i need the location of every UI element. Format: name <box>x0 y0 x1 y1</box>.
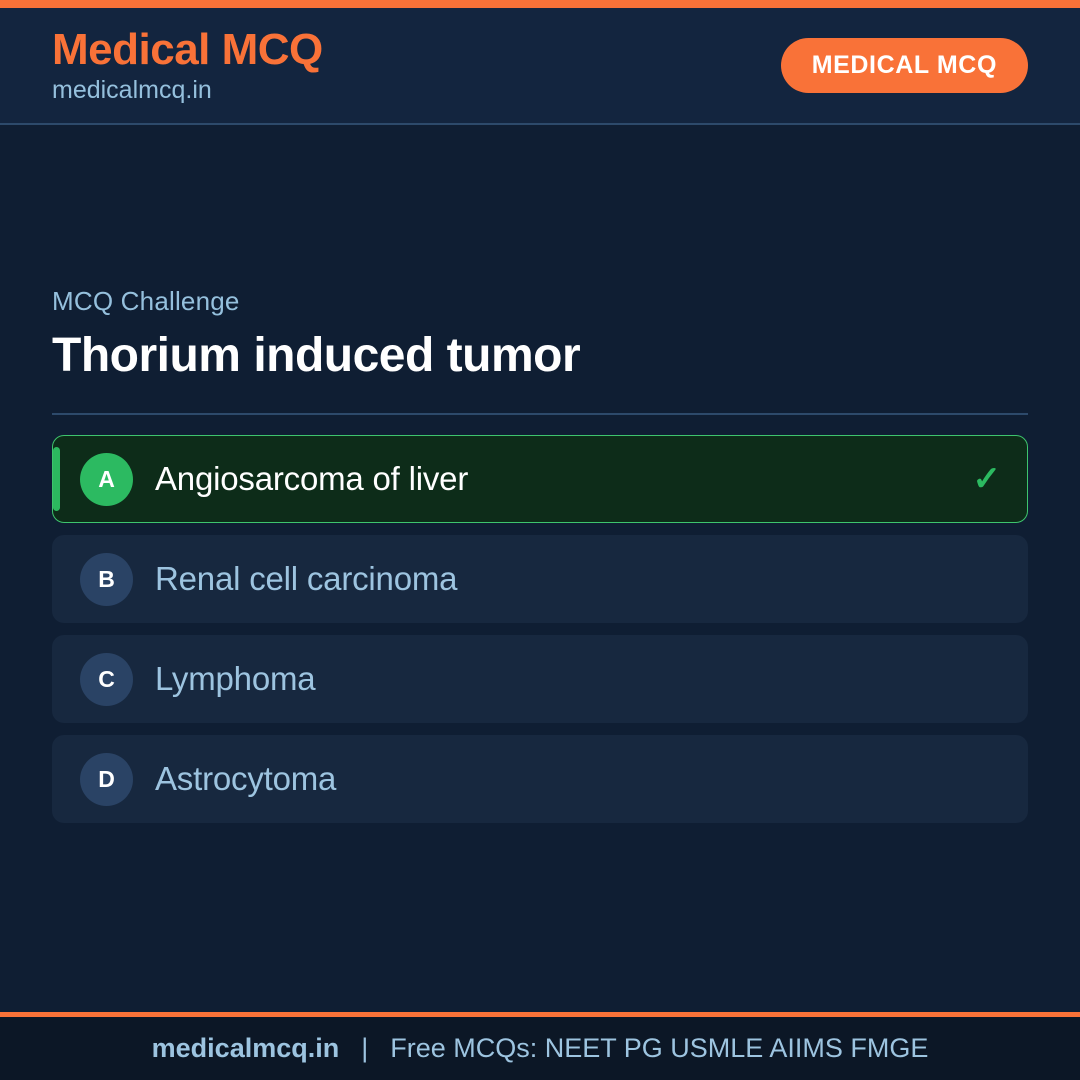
option-b-letter: B <box>80 553 133 606</box>
brand-block: Medical MCQ medicalmcq.in <box>52 26 323 106</box>
main-content: MCQ Challenge Thorium induced tumor A An… <box>0 125 1080 1012</box>
footer-separator: | <box>361 1033 368 1064</box>
option-a-letter: A <box>80 453 133 506</box>
question-kicker: MCQ Challenge <box>52 286 1028 317</box>
option-d-letter: D <box>80 753 133 806</box>
page-header: Medical MCQ medicalmcq.in MEDICAL MCQ <box>0 8 1080 125</box>
option-b-label: Renal cell carcinoma <box>155 560 457 598</box>
check-icon: ✓ <box>973 462 1002 496</box>
top-accent-bar <box>0 0 1080 8</box>
question-block: MCQ Challenge Thorium induced tumor A An… <box>52 286 1028 824</box>
page-title: Thorium induced tumor <box>52 329 1028 383</box>
page-footer: medicalmcq.in | Free MCQs: NEET PG USMLE… <box>0 1012 1080 1080</box>
option-a-label: Angiosarcoma of liver <box>155 460 468 498</box>
option-c[interactable]: C Lymphoma <box>52 635 1028 723</box>
option-c-letter: C <box>80 653 133 706</box>
option-c-label: Lymphoma <box>155 660 315 698</box>
title-divider <box>52 413 1028 415</box>
footer-exams-label: Free MCQs: NEET PG USMLE AIIMS FMGE <box>390 1033 928 1064</box>
mcq-card: Medical MCQ medicalmcq.in MEDICAL MCQ MC… <box>0 0 1080 1080</box>
option-a[interactable]: A Angiosarcoma of liver ✓ <box>52 435 1028 523</box>
brand-badge: MEDICAL MCQ <box>781 38 1028 93</box>
option-b[interactable]: B Renal cell carcinoma <box>52 535 1028 623</box>
brand-subtitle: medicalmcq.in <box>52 75 323 105</box>
brand-title: Medical MCQ <box>52 26 323 74</box>
option-d[interactable]: D Astrocytoma <box>52 735 1028 823</box>
options-list: A Angiosarcoma of liver ✓ B Renal cell c… <box>52 435 1028 823</box>
footer-site-label: medicalmcq.in <box>152 1033 340 1064</box>
option-d-label: Astrocytoma <box>155 760 336 798</box>
